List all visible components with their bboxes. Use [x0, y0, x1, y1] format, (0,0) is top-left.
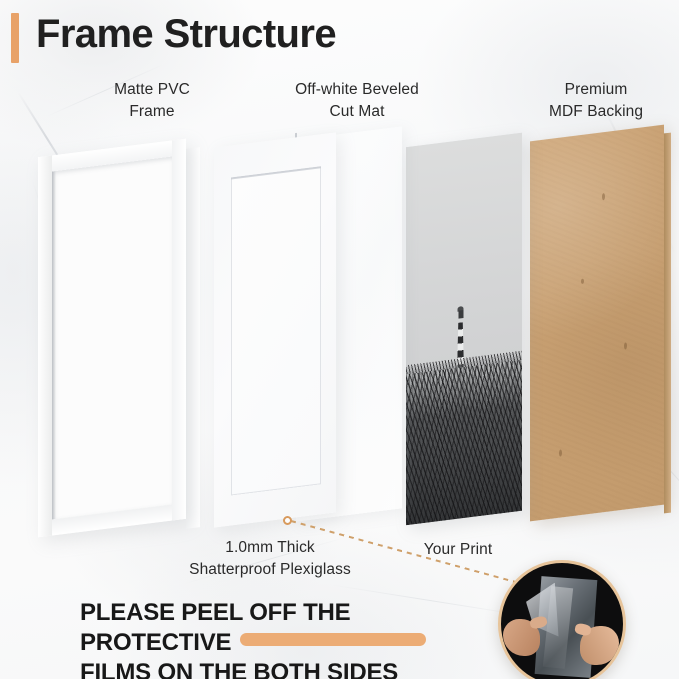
- mat-window-opening: [231, 166, 321, 495]
- label-mdf-backing: Premium MDF Backing: [508, 79, 679, 123]
- label-matte-pvc-frame: Matte PVC Frame: [62, 79, 242, 123]
- frame-rabbet: [52, 157, 172, 520]
- layer-pvc-frame: [38, 139, 186, 537]
- frame-moulding-left: [38, 155, 52, 537]
- protective-film-photo: [498, 560, 626, 679]
- both-sides-highlight: [240, 633, 426, 646]
- infographic-page: Frame Structure Matte PVC Frame Off-whit…: [0, 0, 679, 679]
- layer-mdf-backing: [530, 125, 664, 522]
- mdf-speck: [559, 449, 562, 456]
- print-dune-grass: [406, 359, 522, 526]
- page-title: Frame Structure: [36, 12, 336, 57]
- title-accent-bar: [11, 13, 19, 63]
- layer-cut-mat: [214, 132, 336, 527]
- label-beveled-cut-mat: Off-white Beveled Cut Mat: [258, 79, 456, 123]
- label-plexiglass: 1.0mm Thick Shatterproof Plexiglass: [140, 537, 400, 581]
- frame-side-edge: [186, 147, 200, 529]
- plexiglass-marker-dot: [283, 516, 292, 525]
- mdf-speck: [624, 342, 627, 349]
- layer-your-print: [406, 133, 522, 525]
- mdf-speck: [581, 279, 584, 284]
- frame-inner-shadow: [52, 171, 56, 519]
- mdf-speck: [602, 193, 605, 200]
- mdf-backing-edge: [664, 133, 671, 514]
- frame-moulding-right: [172, 139, 186, 521]
